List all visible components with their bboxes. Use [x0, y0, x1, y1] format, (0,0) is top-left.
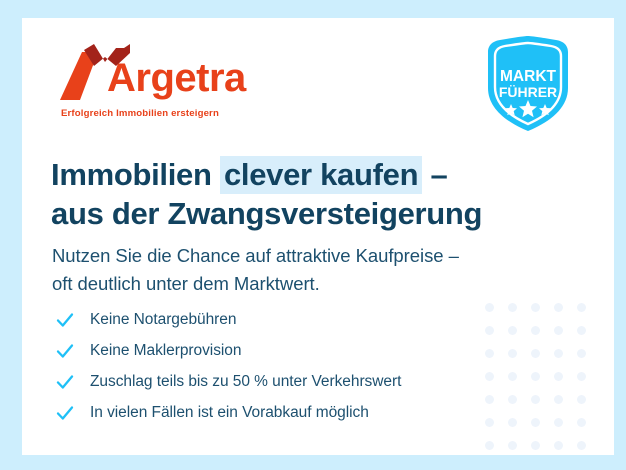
decorative-dot	[577, 349, 586, 358]
list-item-label: Zuschlag teils bis zu 50 % unter Verkehr…	[90, 373, 401, 391]
check-icon	[55, 372, 75, 392]
check-icon	[55, 310, 75, 330]
badge-line2: FÜHRER	[499, 84, 557, 100]
decorative-dot	[531, 303, 540, 312]
headline-highlight: clever kaufen	[220, 156, 422, 194]
list-item-label: Keine Maklerprovision	[90, 342, 241, 360]
decorative-dot	[531, 349, 540, 358]
list-item-label: Keine Notargebühren	[90, 311, 236, 329]
subheadline-line1: Nutzen Sie die Chance auf attraktive Kau…	[52, 245, 459, 266]
argetra-logo[interactable]: Argetra Erfolgreich Immobilien ersteiger…	[58, 44, 278, 124]
list-item: Keine Notargebühren	[53, 304, 523, 335]
decorative-dot	[554, 326, 563, 335]
decorative-dot	[531, 418, 540, 427]
decorative-dot	[577, 418, 586, 427]
decorative-dot	[577, 326, 586, 335]
subheadline: Nutzen Sie die Chance auf attraktive Kau…	[52, 242, 572, 298]
argetra-wordmark: Argetra	[107, 58, 246, 98]
subheadline-line2: oft deutlich unter dem Marktwert.	[52, 273, 320, 294]
banner-card: Argetra Erfolgreich Immobilien ersteiger…	[22, 18, 614, 455]
decorative-dot	[577, 441, 586, 450]
list-item: Zuschlag teils bis zu 50 % unter Verkehr…	[53, 366, 523, 397]
decorative-dot	[554, 349, 563, 358]
decorative-dot	[577, 395, 586, 404]
argetra-tagline: Erfolgreich Immobilien ersteigern	[61, 108, 219, 119]
decorative-dot	[554, 395, 563, 404]
decorative-dot	[554, 303, 563, 312]
benefit-list: Keine Notargebühren Keine Maklerprovisio…	[53, 304, 523, 428]
list-item-label: In vielen Fällen ist ein Vorabkauf mögli…	[90, 404, 369, 422]
badge-line1: MARKT	[500, 68, 556, 85]
page-title: Immobilien clever kaufen – aus der Zwang…	[51, 155, 571, 234]
headline-line2: aus der Zwangsversteigerung	[51, 196, 482, 231]
decorative-dot	[554, 372, 563, 381]
headline-part2: –	[422, 157, 447, 192]
decorative-dot	[531, 372, 540, 381]
decorative-dot	[577, 372, 586, 381]
decorative-dot	[531, 441, 540, 450]
check-icon	[55, 403, 75, 423]
decorative-dot	[531, 326, 540, 335]
decorative-dot	[554, 418, 563, 427]
list-item: In vielen Fällen ist ein Vorabkauf mögli…	[53, 397, 523, 428]
decorative-dot	[508, 441, 517, 450]
decorative-dot	[531, 395, 540, 404]
check-icon	[55, 341, 75, 361]
list-item: Keine Maklerprovision	[53, 335, 523, 366]
decorative-dot	[554, 441, 563, 450]
decorative-dot	[577, 303, 586, 312]
decorative-dot	[485, 441, 494, 450]
promo-banner: Argetra Erfolgreich Immobilien ersteiger…	[0, 0, 626, 470]
marktfuehrer-badge: MARKT FÜHRER	[484, 36, 572, 132]
headline-part1: Immobilien	[51, 157, 220, 192]
